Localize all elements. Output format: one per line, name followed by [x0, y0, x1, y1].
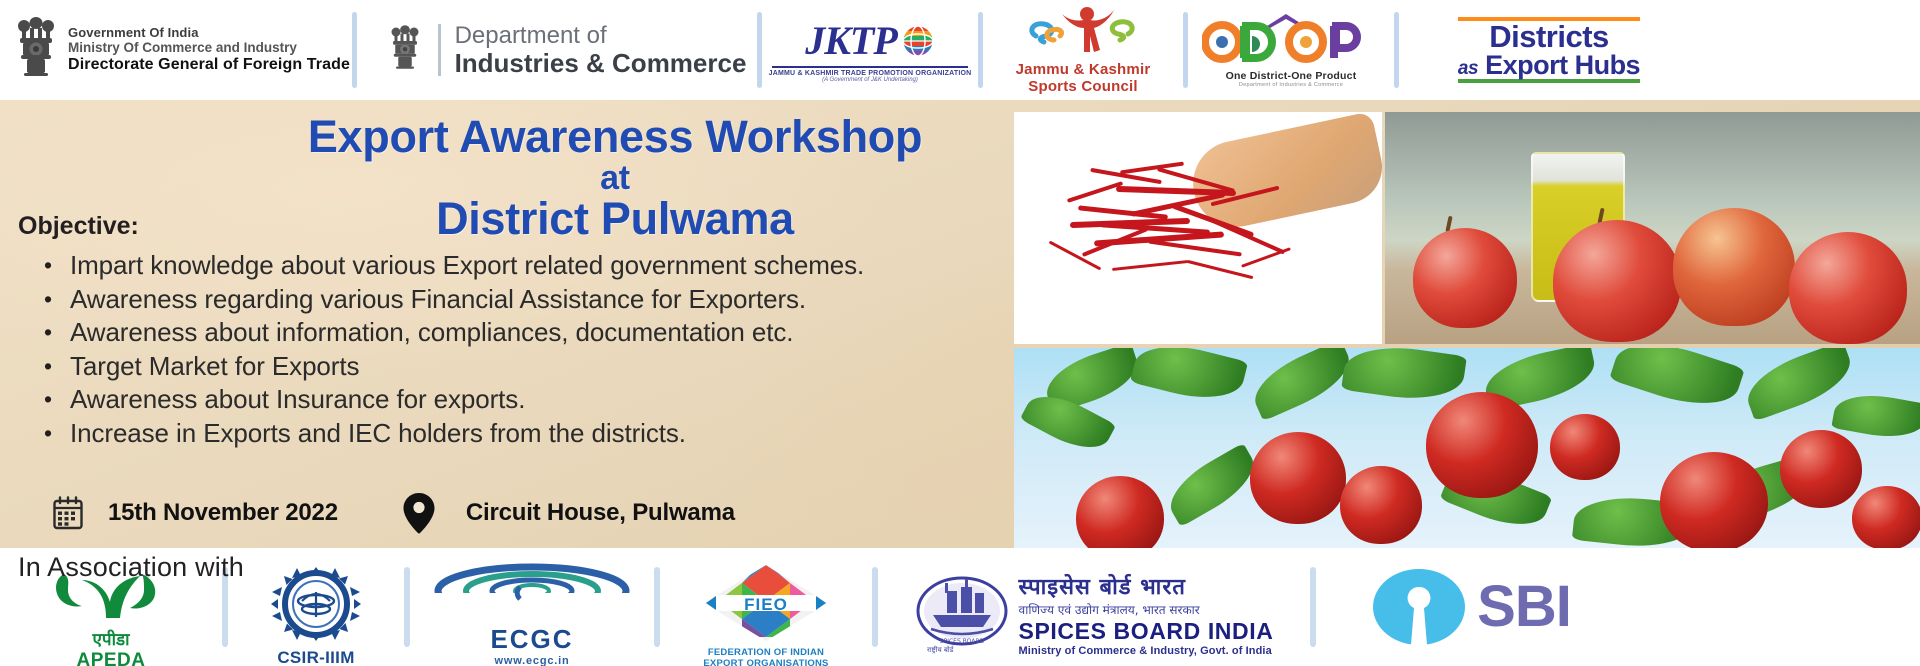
association-label: In Association with [18, 552, 244, 583]
ecgc-rings-icon [434, 563, 630, 619]
jksc-line2: Sports Council [1016, 78, 1151, 95]
header-logo-dgft: Government Of India Ministry Of Commerce… [0, 0, 352, 100]
list-item-label: Increase in Exports and IEC holders from… [70, 418, 686, 449]
ashoka-emblem-icon [16, 17, 56, 83]
header-logo-districts-export-hubs: Districts as Export Hubs [1399, 0, 1699, 100]
list-item-label: Awareness regarding various Financial As… [70, 284, 806, 315]
event-venue: Circuit House, Pulwama [466, 499, 735, 527]
spices-english-line1: SPICES BOARD INDIA [1019, 618, 1274, 645]
partner-logo-sbi: SBI [1316, 548, 1626, 666]
partner-logo-ecgc: ECGC www.ecgc.in [410, 548, 654, 666]
ashoka-emblem-icon [390, 24, 420, 76]
header-logo-jktp: JKTP [762, 0, 978, 100]
sbi-keyhole-icon [1371, 567, 1467, 647]
deh-line2-wrap: as Export Hubs [1458, 52, 1640, 79]
svg-text:SPICES BOARD: SPICES BOARD [939, 638, 984, 645]
deh-as: as [1458, 58, 1478, 79]
fieo-diamond-icon: FIEO [702, 563, 830, 643]
orchard-apple [1340, 466, 1422, 544]
bullet-dot-icon: • [44, 284, 70, 314]
spices-hindi-line1: स्पाइसेस बोर्ड भारत [1019, 571, 1274, 601]
odop-tagline: One District-One Product [1202, 70, 1380, 82]
jktp-rule [772, 66, 968, 68]
event-venue-block: Circuit House, Pulwama [402, 492, 735, 534]
doic-line1: Department of [455, 23, 747, 49]
apple-far-right [1789, 232, 1907, 344]
list-item-label: Awareness about Insurance for exports. [70, 384, 525, 415]
jktp-wordmark: JKTP [805, 17, 897, 64]
bullet-dot-icon: • [44, 384, 70, 414]
event-date: 15th November 2022 [108, 499, 338, 527]
orchard-apple [1852, 486, 1920, 548]
csir-label: CSIR-IIIM [269, 648, 363, 666]
jktp-undertaking: (A Government of J&K Undertaking) [769, 77, 972, 83]
apeda-hindi: एपीडा [48, 627, 174, 650]
ecgc-label: ECGC [434, 624, 630, 655]
header-logo-strip: Government Of India Ministry Of Commerce… [0, 0, 1920, 100]
header-logo-industries-commerce: Department of Industries & Commerce [357, 0, 757, 100]
orchard-apple [1660, 452, 1768, 548]
apple-center [1553, 220, 1681, 342]
map-pin-icon [402, 492, 436, 534]
calendar-icon [52, 496, 84, 530]
dgft-text-block: Government Of India Ministry Of Commerce… [68, 25, 350, 75]
partners-strip: In Association with एपीडा APEDA [0, 548, 1920, 666]
poster-page: Government Of India Ministry Of Commerce… [0, 0, 1920, 666]
list-item-label: Impart knowledge about various Export re… [70, 250, 864, 281]
event-date-block: 15th November 2022 [52, 496, 338, 530]
orchard-apple [1780, 430, 1862, 508]
orchard-apple [1550, 414, 1620, 480]
partner-logo-spices-board: SPICES BOARD राष्ट्रीय बोर्ड स्पाइसेस बो… [878, 548, 1310, 666]
list-item-label: Awareness about information, compliances… [70, 317, 793, 348]
industries-commerce-text: Department of Industries & Commerce [455, 23, 747, 78]
jksc-line1: Jammu & Kashmir [1016, 61, 1151, 78]
bullet-dot-icon: • [44, 317, 70, 347]
saffron-threads-photo [1014, 112, 1382, 344]
bullet-dot-icon: • [44, 418, 70, 448]
apple-orchard-photo [1014, 348, 1920, 548]
fieo-line2: EXPORT ORGANISATIONS [702, 659, 830, 666]
svg-text:FIEO: FIEO [744, 595, 788, 614]
spices-hindi-line2: वाणिज्य एवं उद्योग मंत्रालय, भारत सरकार [1019, 601, 1274, 618]
globe-icon [901, 24, 935, 58]
ecgc-url[interactable]: www.ecgc.in [434, 655, 630, 666]
apple-left [1413, 228, 1517, 328]
spices-board-ship-icon: SPICES BOARD राष्ट्रीय बोर्ड [915, 573, 1009, 655]
header-logo-odop: One District-One Product Department of I… [1188, 0, 1394, 100]
list-item-label: Target Market for Exports [70, 351, 359, 382]
objective-label: Objective: [18, 212, 139, 241]
apple-right [1673, 208, 1795, 326]
bullet-dot-icon: • [44, 250, 70, 280]
dgft-line1: Government Of India [68, 25, 350, 40]
jktp-subtitle: JAMMU & KASHMIR TRADE PROMOTION ORGANIZA… [769, 70, 972, 77]
deh-line2: Export Hubs [1485, 50, 1640, 80]
dgft-line3: Directorate General of Foreign Trade [68, 56, 350, 75]
event-banner: Export Awareness Workshop at District Pu… [0, 100, 1920, 548]
industries-inner-divider [438, 24, 441, 76]
fieo-line1: FEDERATION OF INDIAN [702, 648, 830, 659]
event-meta: 15th November 2022 Circuit House, Pulwam… [52, 492, 735, 534]
sbi-label: SBI [1477, 579, 1571, 634]
bullet-dot-icon: • [44, 351, 70, 381]
orchard-apple [1250, 432, 1346, 524]
apeda-english: APEDA [48, 650, 174, 666]
header-logo-jk-sports-council: Jammu & Kashmir Sports Council [983, 0, 1183, 100]
odop-wordmark-icon [1202, 12, 1380, 64]
orchard-apple [1426, 392, 1538, 498]
svg-text:राष्ट्रीय बोर्ड: राष्ट्रीय बोर्ड [927, 645, 954, 654]
banner-image-collage [1000, 112, 1920, 548]
athlete-icon [1024, 6, 1142, 54]
spices-english-line2: Ministry of Commerce & Industry, Govt. o… [1019, 645, 1274, 657]
apple-juice-photo [1385, 112, 1920, 344]
partner-logo-fieo: FIEO FEDERATION OF INDIAN EXPORT ORGANIS… [660, 548, 872, 666]
odop-sub: Department of Industries & Commerce [1202, 82, 1380, 88]
csir-gear-icon [269, 565, 363, 643]
partner-logo-csir-iiim: CSIR-IIIM [228, 548, 404, 666]
dgft-line2: Ministry Of Commerce and Industry [68, 40, 350, 56]
deh-line1: Districts [1458, 21, 1640, 52]
saffron-pile [1060, 160, 1310, 278]
doic-line2: Industries & Commerce [455, 49, 747, 78]
